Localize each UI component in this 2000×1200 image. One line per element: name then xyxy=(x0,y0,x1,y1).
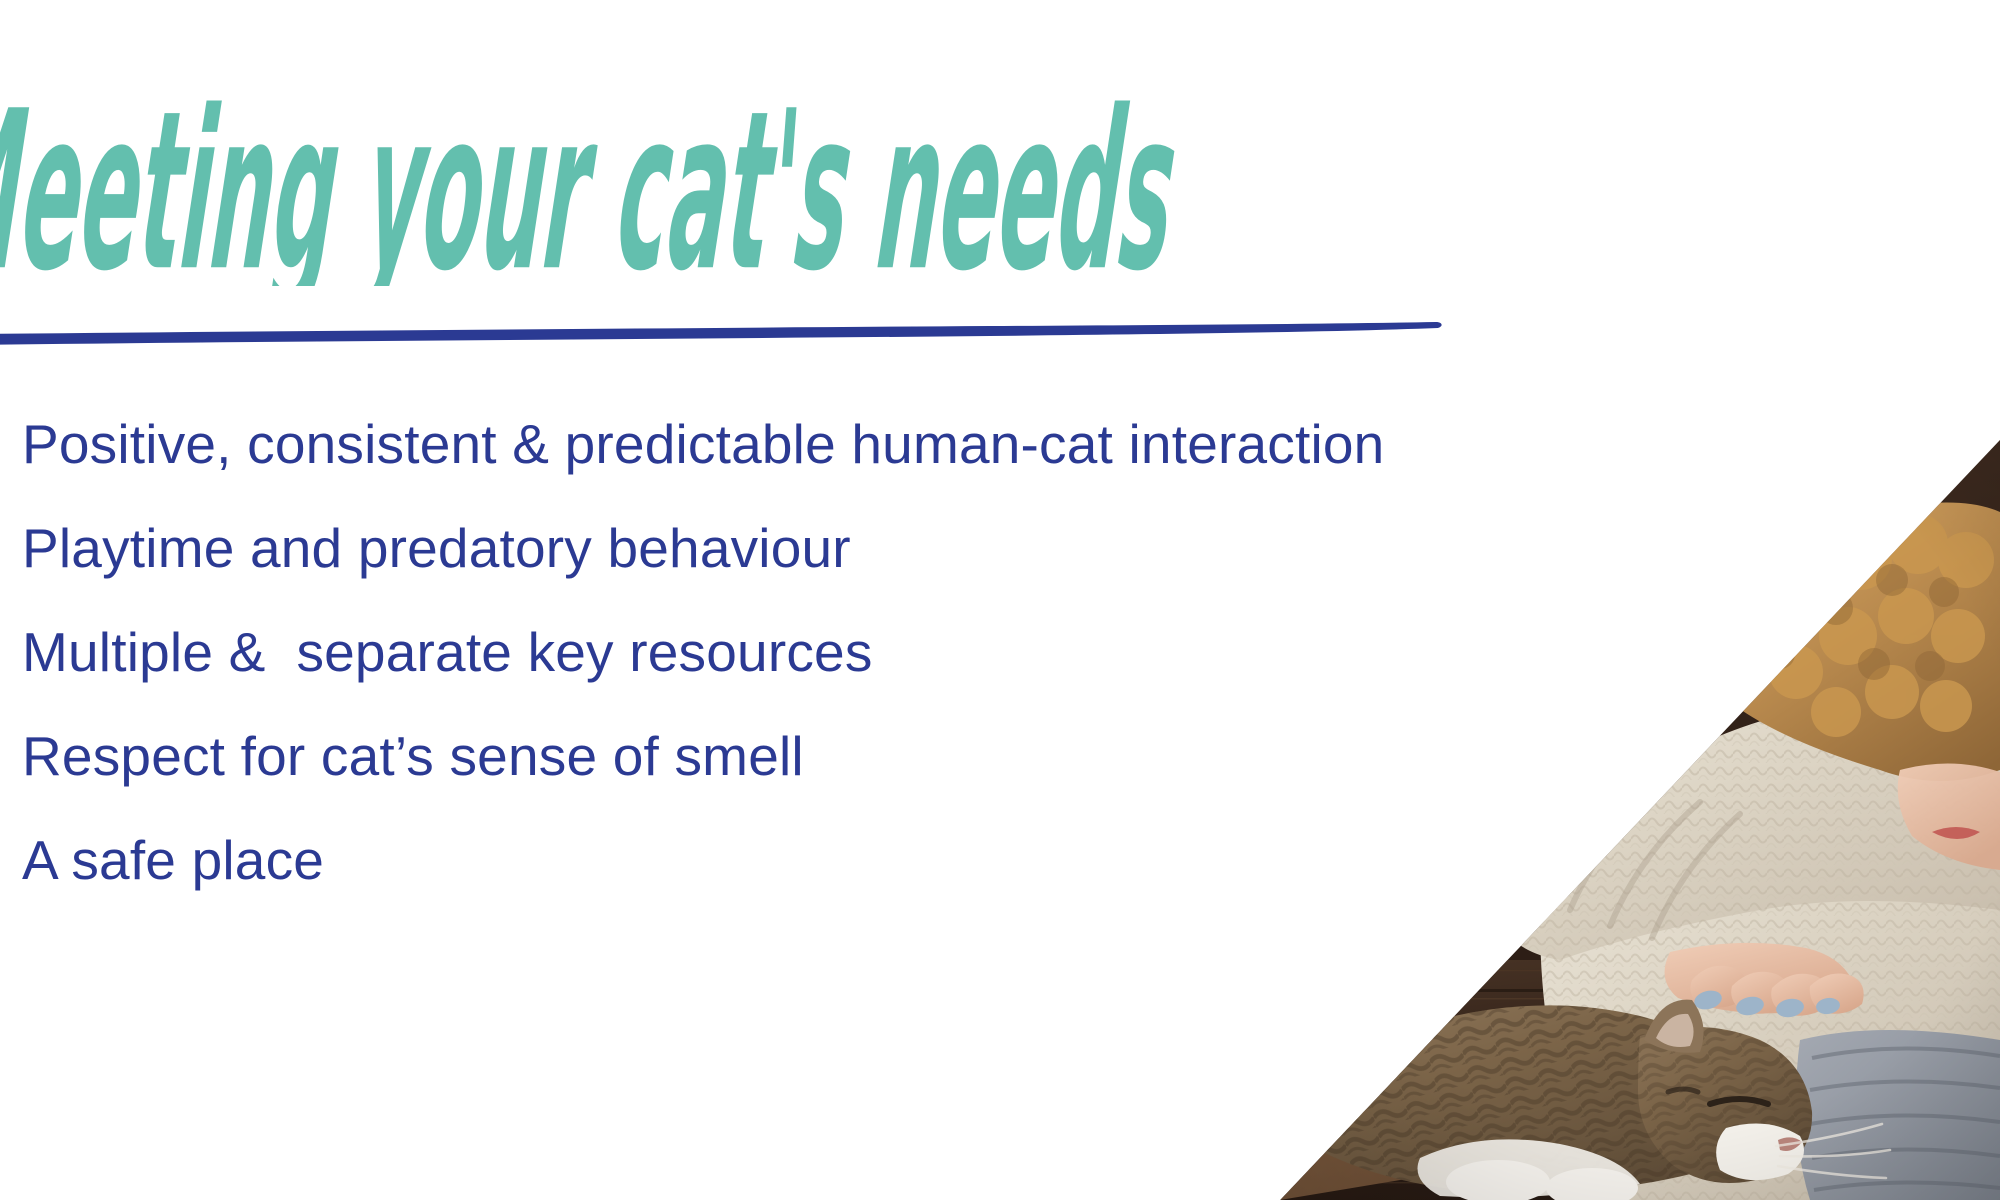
underline-stroke xyxy=(0,322,1442,345)
bullet-item-1: Positive, consistent & predictable human… xyxy=(22,392,1982,496)
slide-canvas: .scr { font-family:"DejaVu Sans", sans-s… xyxy=(0,0,2000,1200)
slide-title: .scr { font-family:"DejaVu Sans", sans-s… xyxy=(0,36,1256,286)
title-text: Meeting your cat's needs xyxy=(0,64,1184,286)
bullet-item-3: Multiple & separate key resources xyxy=(22,600,1982,704)
bullet-item-2: Playtime and predatory behaviour xyxy=(22,496,1982,600)
title-underline xyxy=(0,300,1460,346)
title-script-artwork: .scr { font-family:"DejaVu Sans", sans-s… xyxy=(0,36,1256,286)
